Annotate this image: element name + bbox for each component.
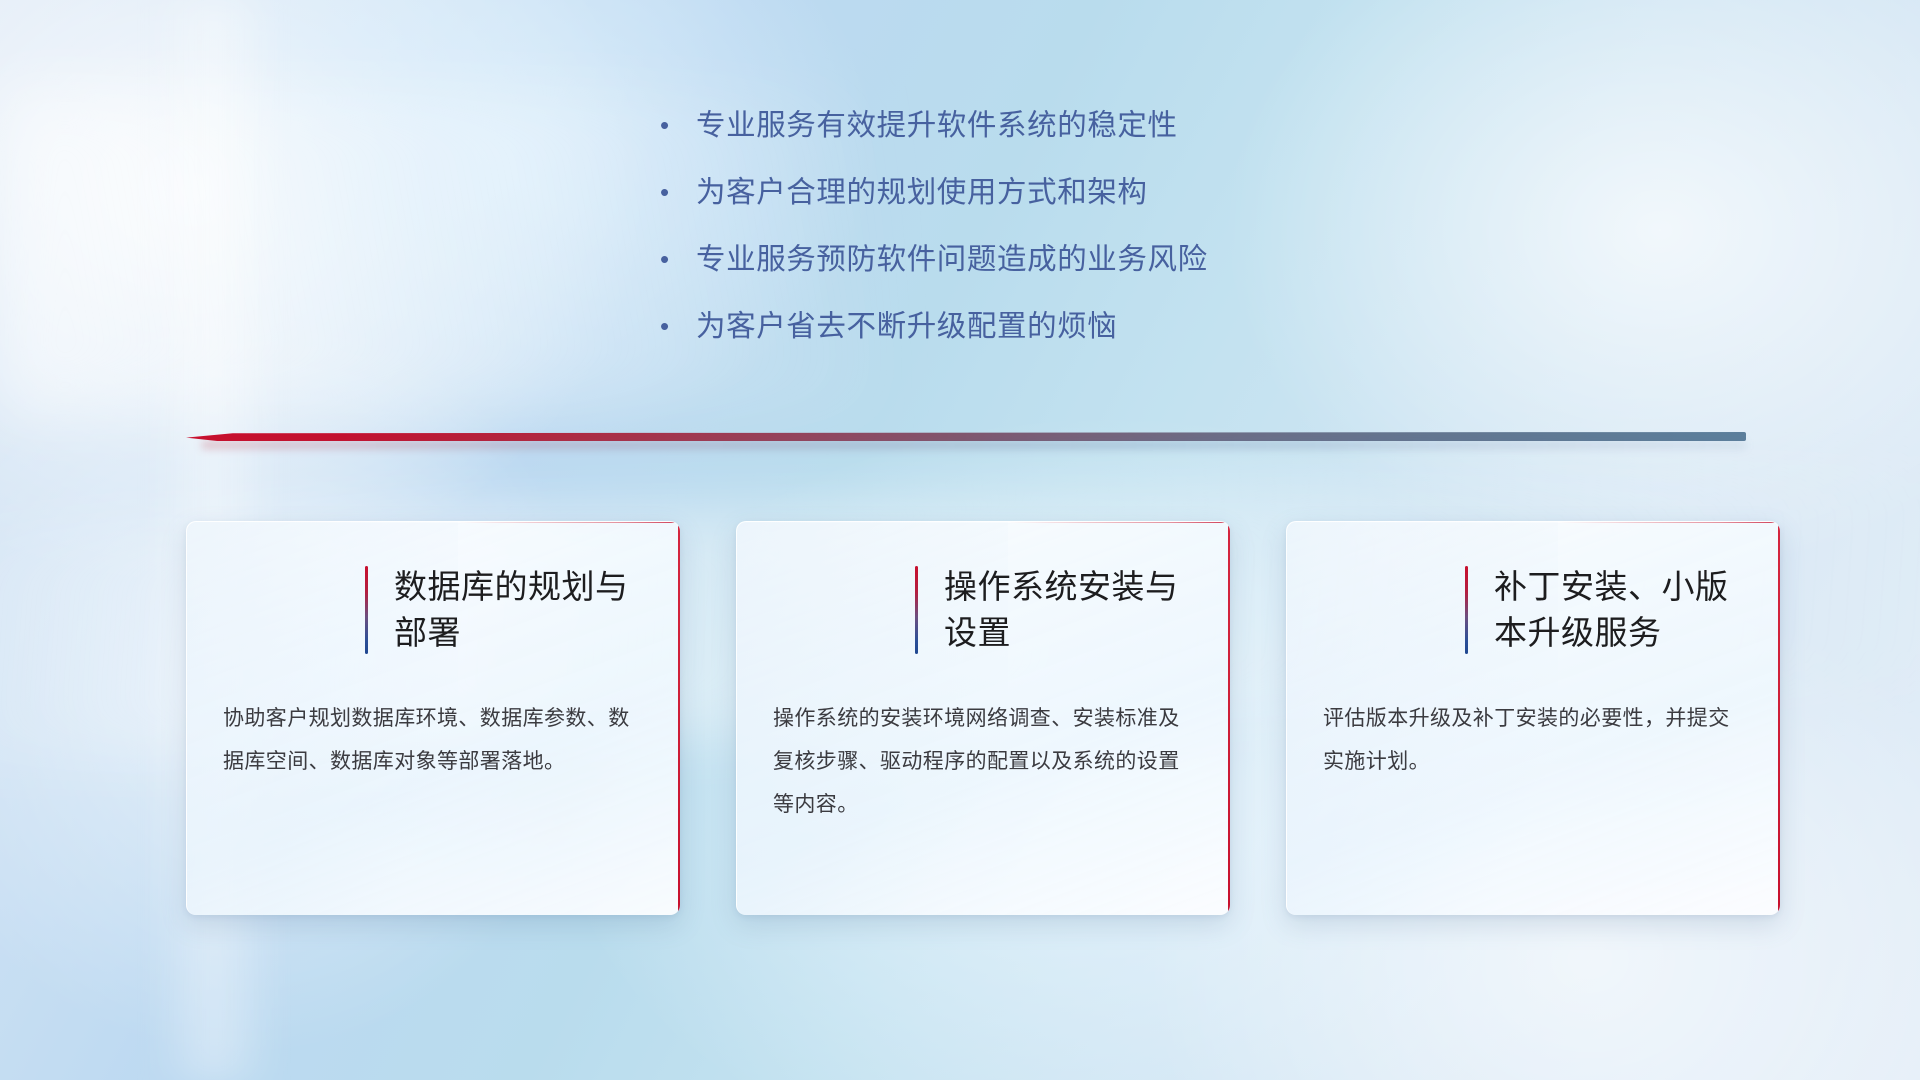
feature-card-02[interactable]: 02 操作系统安装与设置 操作系统的安装环境网络调查、安装标准及复核步骤、驱动程… [736, 521, 1230, 915]
bullet-text: 为客户省去不断升级配置的烦恼 [696, 309, 1480, 346]
divider-gradient-bar [186, 432, 1746, 441]
card-header: 01 数据库的规划与部署 [187, 522, 680, 698]
card-header: 03 补丁安装、小版本升级服务 [1287, 522, 1780, 698]
card-body-text: 操作系统的安装环境网络调查、安装标准及复核步骤、驱动程序的配置以及系统的设置等内… [737, 698, 1230, 826]
card-number-text: 01 [224, 552, 344, 668]
bullet-text: 专业服务预防软件问题造成的业务风险 [696, 242, 1480, 279]
card-number-watermark: 03 [1309, 558, 1459, 662]
card-accent-divider [1465, 566, 1468, 654]
list-item: • 为客户合理的规划使用方式和架构 [660, 175, 1480, 212]
feature-card-03[interactable]: 03 补丁安装、小版本升级服务 评估版本升级及补丁安装的必要性，并提交实施计划。 [1286, 521, 1780, 915]
card-title: 补丁安装、小版本升级服务 [1494, 564, 1750, 655]
feature-card-group: 01 数据库的规划与部署 协助客户规划数据库环境、数据库参数、数据库空间、数据库… [186, 521, 1780, 915]
card-number-text: 03 [1324, 552, 1444, 668]
card-title: 操作系统安装与设置 [944, 564, 1200, 655]
list-item: • 专业服务有效提升软件系统的稳定性 [660, 108, 1480, 145]
bullet-text: 为客户合理的规划使用方式和架构 [696, 175, 1480, 212]
bullet-text: 专业服务有效提升软件系统的稳定性 [696, 108, 1480, 145]
card-body-text: 评估版本升级及补丁安装的必要性，并提交实施计划。 [1287, 698, 1780, 784]
card-number-text: 02 [774, 552, 894, 668]
bullet-marker-icon: • [660, 108, 696, 143]
bullet-marker-icon: • [660, 175, 696, 210]
card-title: 数据库的规划与部署 [394, 564, 650, 655]
card-number-watermark: 02 [759, 558, 909, 662]
bullet-marker-icon: • [660, 242, 696, 277]
feature-card-01[interactable]: 01 数据库的规划与部署 协助客户规划数据库环境、数据库参数、数据库空间、数据库… [186, 521, 680, 915]
divider-shadow [202, 441, 1746, 449]
list-item: • 专业服务预防软件问题造成的业务风险 [660, 242, 1480, 279]
card-accent-divider [365, 566, 368, 654]
card-body-text: 协助客户规划数据库环境、数据库参数、数据库空间、数据库对象等部署落地。 [187, 698, 680, 784]
bullet-marker-icon: • [660, 309, 696, 344]
bullet-list: • 专业服务有效提升软件系统的稳定性 • 为客户合理的规划使用方式和架构 • 专… [660, 108, 1480, 376]
card-accent-divider [915, 566, 918, 654]
card-header: 02 操作系统安装与设置 [737, 522, 1230, 698]
card-number-watermark: 01 [209, 558, 359, 662]
section-divider [186, 432, 1746, 450]
list-item: • 为客户省去不断升级配置的烦恼 [660, 309, 1480, 346]
